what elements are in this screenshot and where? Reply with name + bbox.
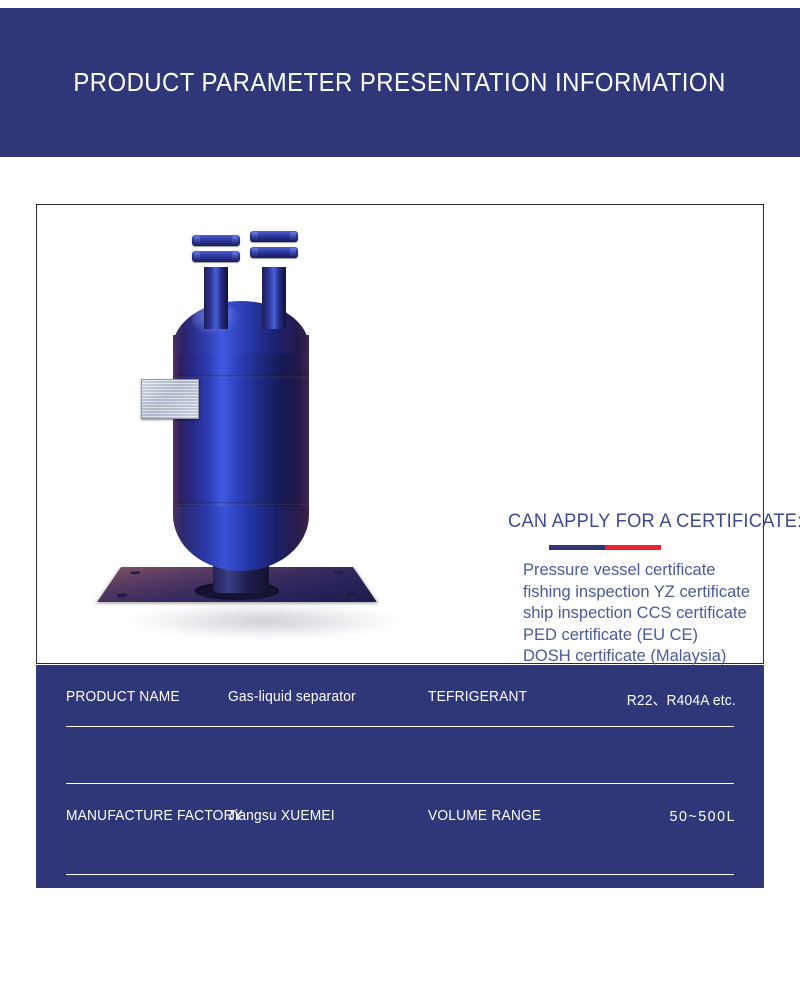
- product-photo-panel: CAN APPLY FOR A CERTIFICATE: Pressure ve…: [36, 204, 764, 664]
- flange-bolt: [194, 252, 200, 261]
- description-line: Business controllers and other optional …: [310, 954, 727, 975]
- vessel-top-dome: [173, 301, 309, 353]
- certificate-block: CAN APPLY FOR A CERTIFICATE: Pressure ve…: [508, 511, 800, 533]
- list-item: DOSH certificate (Malaysia): [523, 645, 750, 667]
- bolt-hole: [346, 594, 359, 598]
- flange-bolt: [290, 232, 296, 241]
- list-item: PED certificate (EU CE): [523, 624, 750, 646]
- description-line: port and air flow balance port.: [310, 933, 727, 954]
- specification-table: PRODUCT NAME Gas-liquid separator TEFRIG…: [36, 665, 764, 888]
- product-image: [37, 205, 437, 663]
- divider-segment-navy: [549, 545, 605, 550]
- spec-value-product-name: Gas-liquid separator: [228, 689, 356, 705]
- list-item: ship inspection CCS certificate: [523, 602, 750, 624]
- list-item: fishing inspection YZ certificate: [523, 581, 750, 603]
- header-banner: PRODUCT PARAMETER PRESENTATION INFORMATI…: [0, 8, 800, 157]
- description-line: needed to support customization.: [310, 975, 727, 996]
- flange-bolt: [252, 248, 258, 257]
- vessel-bottom-dome: [173, 501, 309, 571]
- flange: [192, 235, 240, 246]
- flange: [192, 251, 240, 262]
- inlet-pipe: [204, 267, 228, 329]
- table-row: PRODUCT DESCRIPTION Discrete/horizontal,…: [36, 784, 764, 888]
- flange-bolt: [232, 252, 238, 261]
- flange: [250, 247, 298, 258]
- page-title: PRODUCT PARAMETER PRESENTATION INFORMATI…: [74, 67, 726, 98]
- table-divider: [66, 874, 734, 875]
- bolt-hole: [130, 571, 141, 574]
- vessel-body: [173, 335, 309, 507]
- certificate-heading: CAN APPLY FOR A CERTIFICATE:: [508, 511, 800, 533]
- divider-segment-red: [605, 545, 661, 550]
- flange: [250, 231, 298, 242]
- table-row: MANUFACTURE FACTORY Jiangsu XUEMEI VOLUM…: [36, 727, 764, 784]
- outlet-pipe: [262, 267, 286, 329]
- flange-bolt: [194, 236, 200, 245]
- flange-bolt: [252, 232, 258, 241]
- certificate-divider: [549, 545, 661, 550]
- product-shadow: [132, 603, 397, 639]
- table-row: PRODUCT NAME Gas-liquid separator TEFRIG…: [36, 665, 764, 727]
- spec-value-refrigerant: R22、R404A etc.: [627, 689, 736, 710]
- list-item: Pressure vessel certificate: [523, 559, 750, 581]
- vessel-weld-seam: [173, 375, 309, 378]
- bolt-hole: [333, 571, 344, 574]
- spec-label-product-description: PRODUCT DESCRIPTION: [66, 949, 232, 965]
- spec-label-refrigerant: TEFRIGERANT: [428, 689, 527, 705]
- spec-value-product-description: Discrete/horizontal, the return air pipe…: [310, 912, 727, 996]
- vessel-weld-seam: [173, 502, 309, 505]
- flange-bolt: [290, 248, 296, 257]
- spec-label-product-name: PRODUCT NAME: [66, 689, 180, 705]
- product-nameplate: [141, 379, 199, 419]
- bolt-hole: [116, 594, 129, 598]
- description-line: Discrete/horizontal, the return air pipe…: [310, 912, 727, 933]
- flange-bolt: [232, 236, 238, 245]
